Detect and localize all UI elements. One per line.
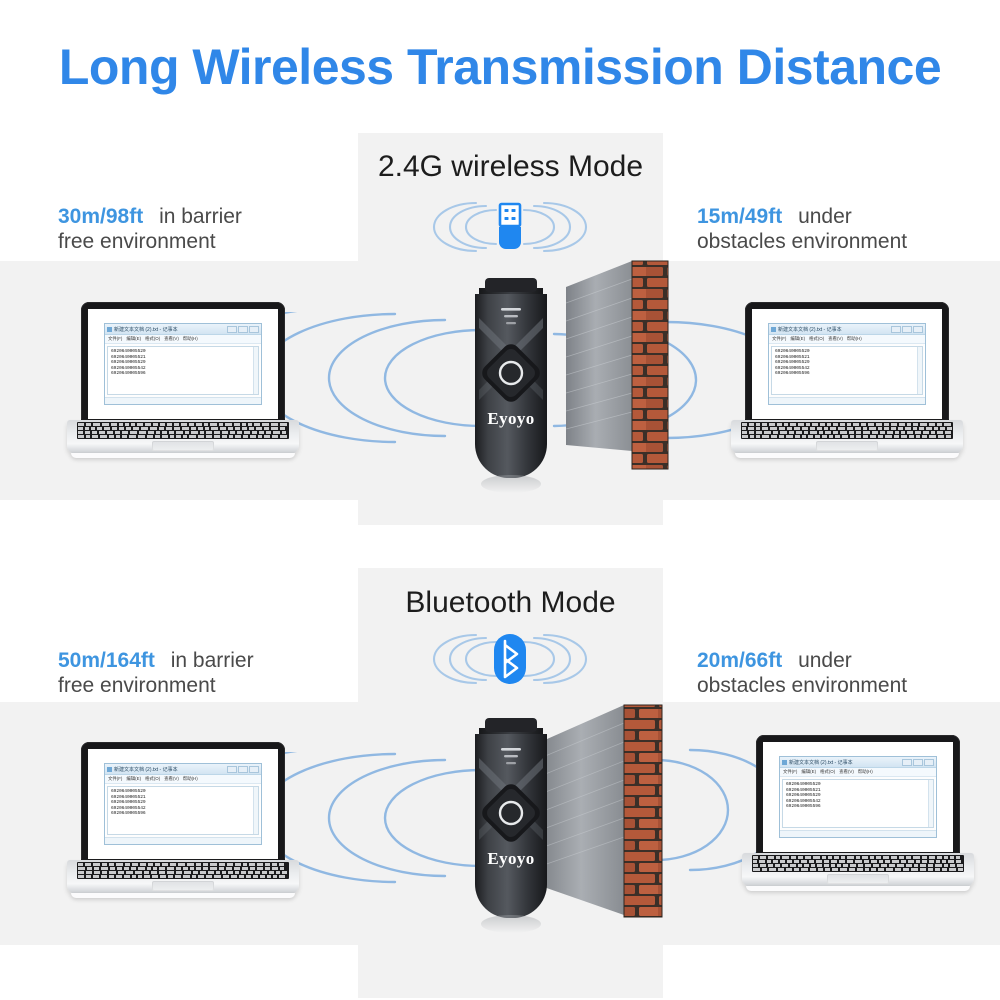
- laptop-right: 新建文本文档 (2).txt - 记事本 文件(F) 编辑(E) 格式(O): [742, 735, 974, 895]
- laptop-base-lip: [746, 886, 970, 891]
- keyboard-key[interactable]: [760, 856, 766, 859]
- keyboard-key[interactable]: [167, 867, 174, 870]
- keyboard-key[interactable]: [132, 863, 138, 866]
- keyboard-key[interactable]: [196, 863, 201, 866]
- keyboard-key[interactable]: [837, 864, 841, 867]
- keyboard-key[interactable]: [775, 864, 780, 867]
- keyboard-key[interactable]: [117, 867, 122, 870]
- keyboard-key[interactable]: [148, 863, 153, 866]
- keyboard-key[interactable]: [929, 860, 934, 863]
- keyboard-key[interactable]: [116, 875, 122, 878]
- keyboard-key[interactable]: [824, 864, 829, 867]
- keyboard-key[interactable]: [956, 856, 960, 859]
- keyboard-key[interactable]: [759, 860, 765, 863]
- keyboard-key[interactable]: [131, 867, 136, 870]
- laptop-base-lip: [71, 893, 295, 898]
- keyboard-key[interactable]: [818, 868, 823, 871]
- keyboard-key[interactable]: [243, 863, 247, 866]
- keyboard-key[interactable]: [94, 867, 99, 870]
- keyboard-key[interactable]: [257, 863, 263, 866]
- keyboard-key[interactable]: [231, 875, 237, 878]
- keyboard-key[interactable]: [847, 856, 854, 859]
- laptop-trackpad[interactable]: [152, 881, 214, 891]
- keyboard-key[interactable]: [269, 871, 274, 874]
- keyboard-key[interactable]: [109, 863, 114, 866]
- window-controls[interactable]: [227, 766, 259, 773]
- keyboard-key[interactable]: [109, 875, 114, 878]
- keyboard-key[interactable]: [876, 856, 881, 859]
- keyboard-key[interactable]: [227, 863, 233, 866]
- keyboard-key[interactable]: [825, 868, 830, 871]
- key-row: [752, 860, 964, 863]
- keyboard-key[interactable]: [944, 864, 948, 867]
- keyboard-key[interactable]: [239, 875, 244, 878]
- keyboard-key[interactable]: [144, 875, 150, 878]
- keyboard-key[interactable]: [196, 867, 201, 870]
- keyboard-key[interactable]: [956, 860, 961, 863]
- section-bluetooth: Bluetooth Mode 50m/164ft in: [0, 0, 1000, 1000]
- keyboard-key[interactable]: [267, 875, 271, 878]
- menu-item-help[interactable]: 帮助(H): [858, 769, 873, 775]
- keyboard-key[interactable]: [937, 856, 942, 859]
- keyboard-key[interactable]: [858, 864, 863, 867]
- keyboard-key[interactable]: [223, 875, 229, 878]
- keyboard-key[interactable]: [78, 871, 84, 874]
- keyboard-key[interactable]: [210, 863, 217, 866]
- keyboard-key[interactable]: [798, 856, 803, 859]
- keyboard-key[interactable]: [856, 856, 860, 859]
- keyboard-key[interactable]: [865, 864, 871, 867]
- distance-note-line2: obstacles environment: [697, 673, 907, 698]
- distance-value: 20m/66ft: [697, 649, 782, 672]
- key-row: [752, 868, 964, 871]
- keyboard-key[interactable]: [198, 875, 204, 878]
- keyboard-key[interactable]: [200, 871, 206, 874]
- keyboard-key[interactable]: [253, 875, 258, 878]
- keyboard-key[interactable]: [138, 867, 145, 870]
- infographic-root: Long Wireless Transmission Distance 2.4G…: [0, 0, 1000, 1000]
- keyboard-key[interactable]: [840, 868, 847, 871]
- keyboard-key[interactable]: [110, 867, 115, 870]
- keyboard-key[interactable]: [190, 867, 194, 870]
- keyboard-key[interactable]: [273, 875, 277, 878]
- barcode-line: 6920640005596: [111, 811, 255, 817]
- menu-item-edit[interactable]: 编辑(E): [801, 769, 816, 775]
- keyboard-key[interactable]: [942, 860, 946, 863]
- mode-title-bluetooth: Bluetooth Mode: [358, 586, 663, 620]
- notepad-icon: [107, 767, 112, 772]
- key-row: [77, 867, 289, 870]
- bluetooth-icon: [400, 628, 620, 698]
- keyboard-key[interactable]: [768, 864, 773, 867]
- keyboard-key[interactable]: [262, 871, 267, 874]
- notepad-icon: [782, 760, 787, 765]
- keyboard-key[interactable]: [843, 864, 848, 867]
- notepad-title-text: 新建文本文档 (2).txt - 记事本: [789, 759, 853, 766]
- keyboard-key[interactable]: [93, 863, 100, 866]
- keyboard-key[interactable]: [265, 867, 270, 870]
- keyboard-key[interactable]: [78, 863, 83, 866]
- keyboard-key[interactable]: [140, 863, 146, 866]
- keyboard-key[interactable]: [885, 860, 890, 863]
- keyboard-key[interactable]: [168, 875, 173, 878]
- menu-item-format[interactable]: 格式(O): [820, 769, 835, 775]
- keyboard-key[interactable]: [170, 863, 176, 866]
- keyboard-key[interactable]: [135, 871, 142, 874]
- keyboard-key[interactable]: [753, 864, 758, 867]
- keyboard-key[interactable]: [248, 871, 253, 874]
- keyboard-key[interactable]: [159, 871, 165, 874]
- keyboard-key[interactable]: [760, 864, 766, 867]
- keyboard-key[interactable]: [928, 868, 933, 871]
- keyboard-key[interactable]: [839, 860, 845, 863]
- menu-item-format[interactable]: 格式(O): [145, 776, 160, 782]
- keyboard-key[interactable]: [794, 868, 799, 871]
- laptop-keyboard[interactable]: [752, 855, 964, 872]
- keyboard-key[interactable]: [782, 864, 788, 867]
- keyboard-key[interactable]: [906, 864, 912, 867]
- keyboard-key[interactable]: [801, 868, 808, 871]
- keyboard-key[interactable]: [265, 863, 270, 866]
- keyboard-key[interactable]: [824, 860, 829, 863]
- keyboard-key[interactable]: [794, 860, 799, 863]
- keyboard-key[interactable]: [857, 868, 863, 871]
- keyboard-key[interactable]: [246, 875, 251, 878]
- keyboard-key[interactable]: [929, 856, 935, 859]
- keyboard-key[interactable]: [957, 864, 963, 867]
- keyboard-key[interactable]: [831, 860, 837, 863]
- keyboard-key[interactable]: [192, 875, 196, 878]
- close-button[interactable]: [249, 766, 259, 773]
- keyboard-key[interactable]: [849, 868, 855, 871]
- laptop-lid: 新建文本文档 (2).txt - 记事本 文件(F) 编辑(E) 格式(O): [756, 735, 960, 861]
- keyboard-key[interactable]: [93, 875, 99, 878]
- keyboard-key[interactable]: [828, 856, 832, 859]
- window-controls[interactable]: [902, 759, 934, 766]
- keyboard-key[interactable]: [124, 867, 129, 870]
- keyboard-key[interactable]: [773, 860, 778, 863]
- keyboard-key[interactable]: [138, 875, 142, 878]
- keyboard-key[interactable]: [935, 868, 940, 871]
- keyboard-key[interactable]: [822, 856, 826, 859]
- keyboard-key[interactable]: [144, 871, 149, 874]
- keyboard-key[interactable]: [871, 860, 877, 863]
- keyboard-key[interactable]: [831, 864, 835, 867]
- keyboard-key[interactable]: [897, 864, 904, 867]
- keyboard-key[interactable]: [87, 867, 92, 870]
- laptop-lid: 新建文本文档 (2).txt - 记事本 文件(F) 编辑(E) 格式(O): [81, 742, 285, 868]
- notepad-title-text: 新建文本文档 (2).txt - 记事本: [114, 766, 178, 773]
- barcode-line: 6920640005596: [786, 804, 930, 810]
- keyboard-key[interactable]: [801, 860, 807, 863]
- keyboard-key[interactable]: [272, 867, 278, 870]
- minimize-button[interactable]: [227, 766, 237, 773]
- laptop-screen: 新建文本文档 (2).txt - 记事本 文件(F) 编辑(E) 格式(O): [763, 742, 953, 852]
- keyboard-key[interactable]: [816, 860, 822, 863]
- keyboard-key[interactable]: [101, 867, 108, 870]
- keyboard-key[interactable]: [203, 867, 208, 870]
- keyboard-key[interactable]: [891, 856, 897, 859]
- keyboard-key[interactable]: [871, 868, 876, 871]
- vertical-scrollbar[interactable]: [253, 787, 258, 834]
- keyboard-key[interactable]: [219, 863, 225, 866]
- vertical-scrollbar[interactable]: [928, 780, 933, 827]
- notepad-text-area[interactable]: 6920640005520 6920640005521 692064000552…: [107, 786, 259, 835]
- distance-note-line1: under: [798, 649, 852, 672]
- keyboard-key[interactable]: [151, 871, 157, 874]
- keyboard-key[interactable]: [916, 860, 920, 863]
- keyboard-key[interactable]: [787, 860, 792, 863]
- caption-right-bluetooth: 20m/66ft under obstacles environment: [697, 648, 907, 698]
- keyboard-key[interactable]: [782, 856, 789, 859]
- keyboard-key[interactable]: [242, 867, 248, 870]
- keyboard-key[interactable]: [847, 860, 853, 863]
- keyboard-key[interactable]: [203, 863, 208, 866]
- keyboard-key[interactable]: [184, 871, 191, 874]
- keyboard-key[interactable]: [176, 871, 182, 874]
- key-row: [77, 875, 289, 878]
- keyboard-key[interactable]: [257, 867, 263, 870]
- key-row: [752, 856, 964, 859]
- keyboard-key[interactable]: [102, 863, 107, 866]
- keyboard-key[interactable]: [214, 875, 221, 878]
- keyboard-key[interactable]: [906, 856, 911, 859]
- keyboard-key[interactable]: [183, 867, 188, 870]
- laptop-base: [67, 860, 299, 894]
- keyboard-key[interactable]: [219, 867, 224, 870]
- keyboard-key[interactable]: [922, 856, 927, 859]
- keyboard-key[interactable]: [870, 856, 874, 859]
- keyboard-key[interactable]: [944, 856, 948, 859]
- notepad-status-bar: [780, 830, 936, 837]
- keyboard-key[interactable]: [948, 860, 954, 863]
- keyboard-key[interactable]: [210, 867, 217, 870]
- keyboard-key[interactable]: [279, 875, 285, 878]
- keyboard-key[interactable]: [762, 868, 767, 871]
- keyboard-key[interactable]: [132, 875, 136, 878]
- keyboard-key[interactable]: [118, 871, 124, 874]
- keyboard-key[interactable]: [234, 867, 240, 870]
- keyboard-key[interactable]: [769, 868, 776, 871]
- laptop-base: [742, 853, 974, 887]
- notepad-menu-bar[interactable]: 文件(F) 编辑(E) 格式(O) 查看(V) 帮助(H): [780, 768, 936, 777]
- keyboard-key[interactable]: [935, 864, 942, 867]
- laptop-left: 新建文本文档 (2).txt - 记事本 文件(F) 编辑(E) 格式(O): [67, 742, 299, 902]
- keyboard-key[interactable]: [950, 856, 954, 859]
- keyboard-key[interactable]: [78, 875, 84, 878]
- keyboard-key[interactable]: [892, 860, 899, 863]
- keyboard-key[interactable]: [810, 868, 816, 871]
- keyboard-key[interactable]: [936, 860, 940, 863]
- menu-item-edit[interactable]: 编辑(E): [126, 776, 141, 782]
- keyboard-key[interactable]: [920, 864, 926, 867]
- keyboard-key[interactable]: [922, 860, 927, 863]
- keyboard-key[interactable]: [862, 856, 868, 859]
- laptop-screen: 新建文本文档 (2).txt - 记事本 文件(F) 编辑(E) 格式(O): [88, 749, 278, 859]
- keyboard-key[interactable]: [834, 856, 839, 859]
- keyboard-key[interactable]: [780, 860, 785, 863]
- distance-note-line1: in barrier: [171, 649, 254, 672]
- keyboard-key[interactable]: [873, 864, 879, 867]
- keyboard-key[interactable]: [222, 871, 226, 874]
- key-row: [752, 864, 964, 867]
- keyboard-key[interactable]: [126, 871, 133, 874]
- keyboard-key[interactable]: [903, 868, 909, 871]
- keyboard-key[interactable]: [899, 856, 904, 859]
- keyboard-key[interactable]: [282, 871, 287, 874]
- minimize-button[interactable]: [902, 759, 912, 766]
- keyboard-key[interactable]: [85, 863, 91, 866]
- keyboard-key[interactable]: [147, 867, 151, 870]
- keyboard-key[interactable]: [804, 864, 809, 867]
- keyboard-key[interactable]: [241, 871, 246, 874]
- keyboard-key[interactable]: [109, 871, 116, 874]
- notepad-status-bar: [105, 837, 261, 844]
- keyboard-key[interactable]: [776, 856, 780, 859]
- keyboard-key[interactable]: [162, 863, 168, 866]
- caption-left-bluetooth: 50m/164ft in barrier free environment: [58, 648, 254, 698]
- keyboard-key[interactable]: [768, 856, 774, 859]
- keyboard-key[interactable]: [155, 863, 160, 866]
- keyboard-key[interactable]: [276, 871, 280, 874]
- keyboard-key[interactable]: [895, 868, 901, 871]
- keyboard-key[interactable]: [125, 863, 130, 866]
- svg-text:Eyoyo: Eyoyo: [487, 849, 534, 868]
- keyboard-key[interactable]: [901, 860, 906, 863]
- keyboard-key[interactable]: [813, 856, 820, 859]
- keyboard-key[interactable]: [865, 868, 869, 871]
- laptop-keyboard[interactable]: [77, 862, 289, 879]
- key-row: [77, 871, 289, 874]
- keyboard-key[interactable]: [958, 868, 963, 871]
- keyboard-key[interactable]: [101, 875, 107, 878]
- maximize-button[interactable]: [238, 766, 248, 773]
- key-row: [77, 863, 289, 866]
- keyboard-key[interactable]: [949, 868, 956, 871]
- keyboard-key[interactable]: [235, 871, 239, 874]
- menu-item-help[interactable]: 帮助(H): [183, 776, 198, 782]
- menu-item-file[interactable]: 文件(F): [108, 776, 122, 782]
- menu-item-view[interactable]: 查看(V): [839, 769, 854, 775]
- keyboard-key[interactable]: [864, 860, 869, 863]
- notepad-title-bar: 新建文本文档 (2).txt - 记事本: [105, 764, 261, 775]
- notepad-window[interactable]: 新建文本文档 (2).txt - 记事本 文件(F) 编辑(E) 格式(O): [104, 763, 262, 845]
- keyboard-key[interactable]: [805, 856, 811, 859]
- keyboard-key[interactable]: [102, 871, 107, 874]
- maximize-button[interactable]: [913, 759, 923, 766]
- keyboard-key[interactable]: [279, 863, 284, 866]
- keyboard-key[interactable]: [249, 863, 255, 866]
- keyboard-key[interactable]: [160, 875, 166, 878]
- keyboard-key[interactable]: [883, 856, 889, 859]
- keyboard-key[interactable]: [753, 860, 757, 863]
- keyboard-key[interactable]: [176, 867, 181, 870]
- menu-item-view[interactable]: 查看(V): [164, 776, 179, 782]
- keyboard-key[interactable]: [767, 860, 771, 863]
- keyboard-key[interactable]: [208, 871, 214, 874]
- keyboard-key[interactable]: [841, 856, 845, 859]
- notepad-title-bar: 新建文本文档 (2).txt - 记事本: [780, 757, 936, 768]
- keyboard-key[interactable]: [153, 867, 157, 870]
- keyboard-key[interactable]: [913, 856, 920, 859]
- keyboard-key[interactable]: [878, 868, 884, 871]
- keyboard-key[interactable]: [753, 868, 760, 871]
- laptop-trackpad[interactable]: [827, 874, 889, 884]
- keyboard-key[interactable]: [206, 875, 212, 878]
- keyboard-key[interactable]: [116, 863, 123, 866]
- menu-item-file[interactable]: 文件(F): [783, 769, 797, 775]
- keyboard-key[interactable]: [920, 868, 926, 871]
- keyboard-key[interactable]: [260, 875, 265, 878]
- keyboard-key[interactable]: [753, 856, 758, 859]
- keyboard-key[interactable]: [791, 856, 796, 859]
- keyboard-key[interactable]: [183, 875, 190, 878]
- keyboard-key[interactable]: [911, 868, 918, 871]
- keyboard-key[interactable]: [167, 871, 174, 874]
- close-button[interactable]: [924, 759, 934, 766]
- keyboard-key[interactable]: [216, 871, 220, 874]
- keyboard-key[interactable]: [811, 864, 815, 867]
- notepad-text-area[interactable]: 6920640005520 6920640005521 692064000552…: [782, 779, 934, 828]
- distance-note-line2: free environment: [58, 673, 254, 698]
- keyboard-key[interactable]: [886, 868, 893, 871]
- keyboard-key[interactable]: [790, 864, 796, 867]
- keyboard-key[interactable]: [798, 864, 802, 867]
- keyboard-key[interactable]: [914, 864, 918, 867]
- notepad-menu-bar[interactable]: 文件(F) 编辑(E) 格式(O) 查看(V) 帮助(H): [105, 775, 261, 784]
- keyboard-key[interactable]: [152, 875, 158, 878]
- keyboard-key[interactable]: [124, 875, 130, 878]
- keyboard-key[interactable]: [255, 871, 260, 874]
- keyboard-key[interactable]: [850, 864, 856, 867]
- keyboard-key[interactable]: [881, 864, 887, 867]
- keyboard-key[interactable]: [809, 860, 814, 863]
- keyboard-key[interactable]: [187, 863, 194, 866]
- keyboard-key[interactable]: [928, 864, 933, 867]
- distance-value: 50m/164ft: [58, 649, 155, 672]
- keyboard-key[interactable]: [786, 868, 792, 871]
- keyboard-key[interactable]: [908, 860, 914, 863]
- keyboard-key[interactable]: [86, 871, 92, 874]
- keyboard-key[interactable]: [942, 868, 947, 871]
- keyboard-key[interactable]: [817, 864, 822, 867]
- keyboard-key[interactable]: [159, 867, 165, 870]
- keyboard-key[interactable]: [950, 864, 955, 867]
- keyboard-key[interactable]: [175, 875, 181, 878]
- keyboard-key[interactable]: [235, 863, 241, 866]
- keyboard-key[interactable]: [855, 860, 862, 863]
- keyboard-key[interactable]: [178, 863, 185, 866]
- keyboard-key[interactable]: [280, 867, 284, 870]
- keyboard-key[interactable]: [78, 867, 85, 870]
- keyboard-key[interactable]: [832, 868, 838, 871]
- notepad-window[interactable]: 新建文本文档 (2).txt - 记事本 文件(F) 编辑(E) 格式(O): [779, 756, 937, 838]
- keyboard-key[interactable]: [94, 871, 100, 874]
- keyboard-key[interactable]: [879, 860, 883, 863]
- keyboard-key[interactable]: [889, 864, 895, 867]
- keyboard-key[interactable]: [228, 871, 233, 874]
- keyboard-key[interactable]: [193, 871, 198, 874]
- keyboard-key[interactable]: [226, 867, 232, 870]
- keyboard-key[interactable]: [778, 868, 784, 871]
- brick-wall-obstacle: [538, 697, 728, 927]
- keyboard-key[interactable]: [86, 875, 91, 878]
- barcode-scanner-device: Eyoyo: [463, 712, 559, 938]
- keyboard-key[interactable]: [272, 863, 277, 866]
- keyboard-key[interactable]: [250, 867, 255, 870]
